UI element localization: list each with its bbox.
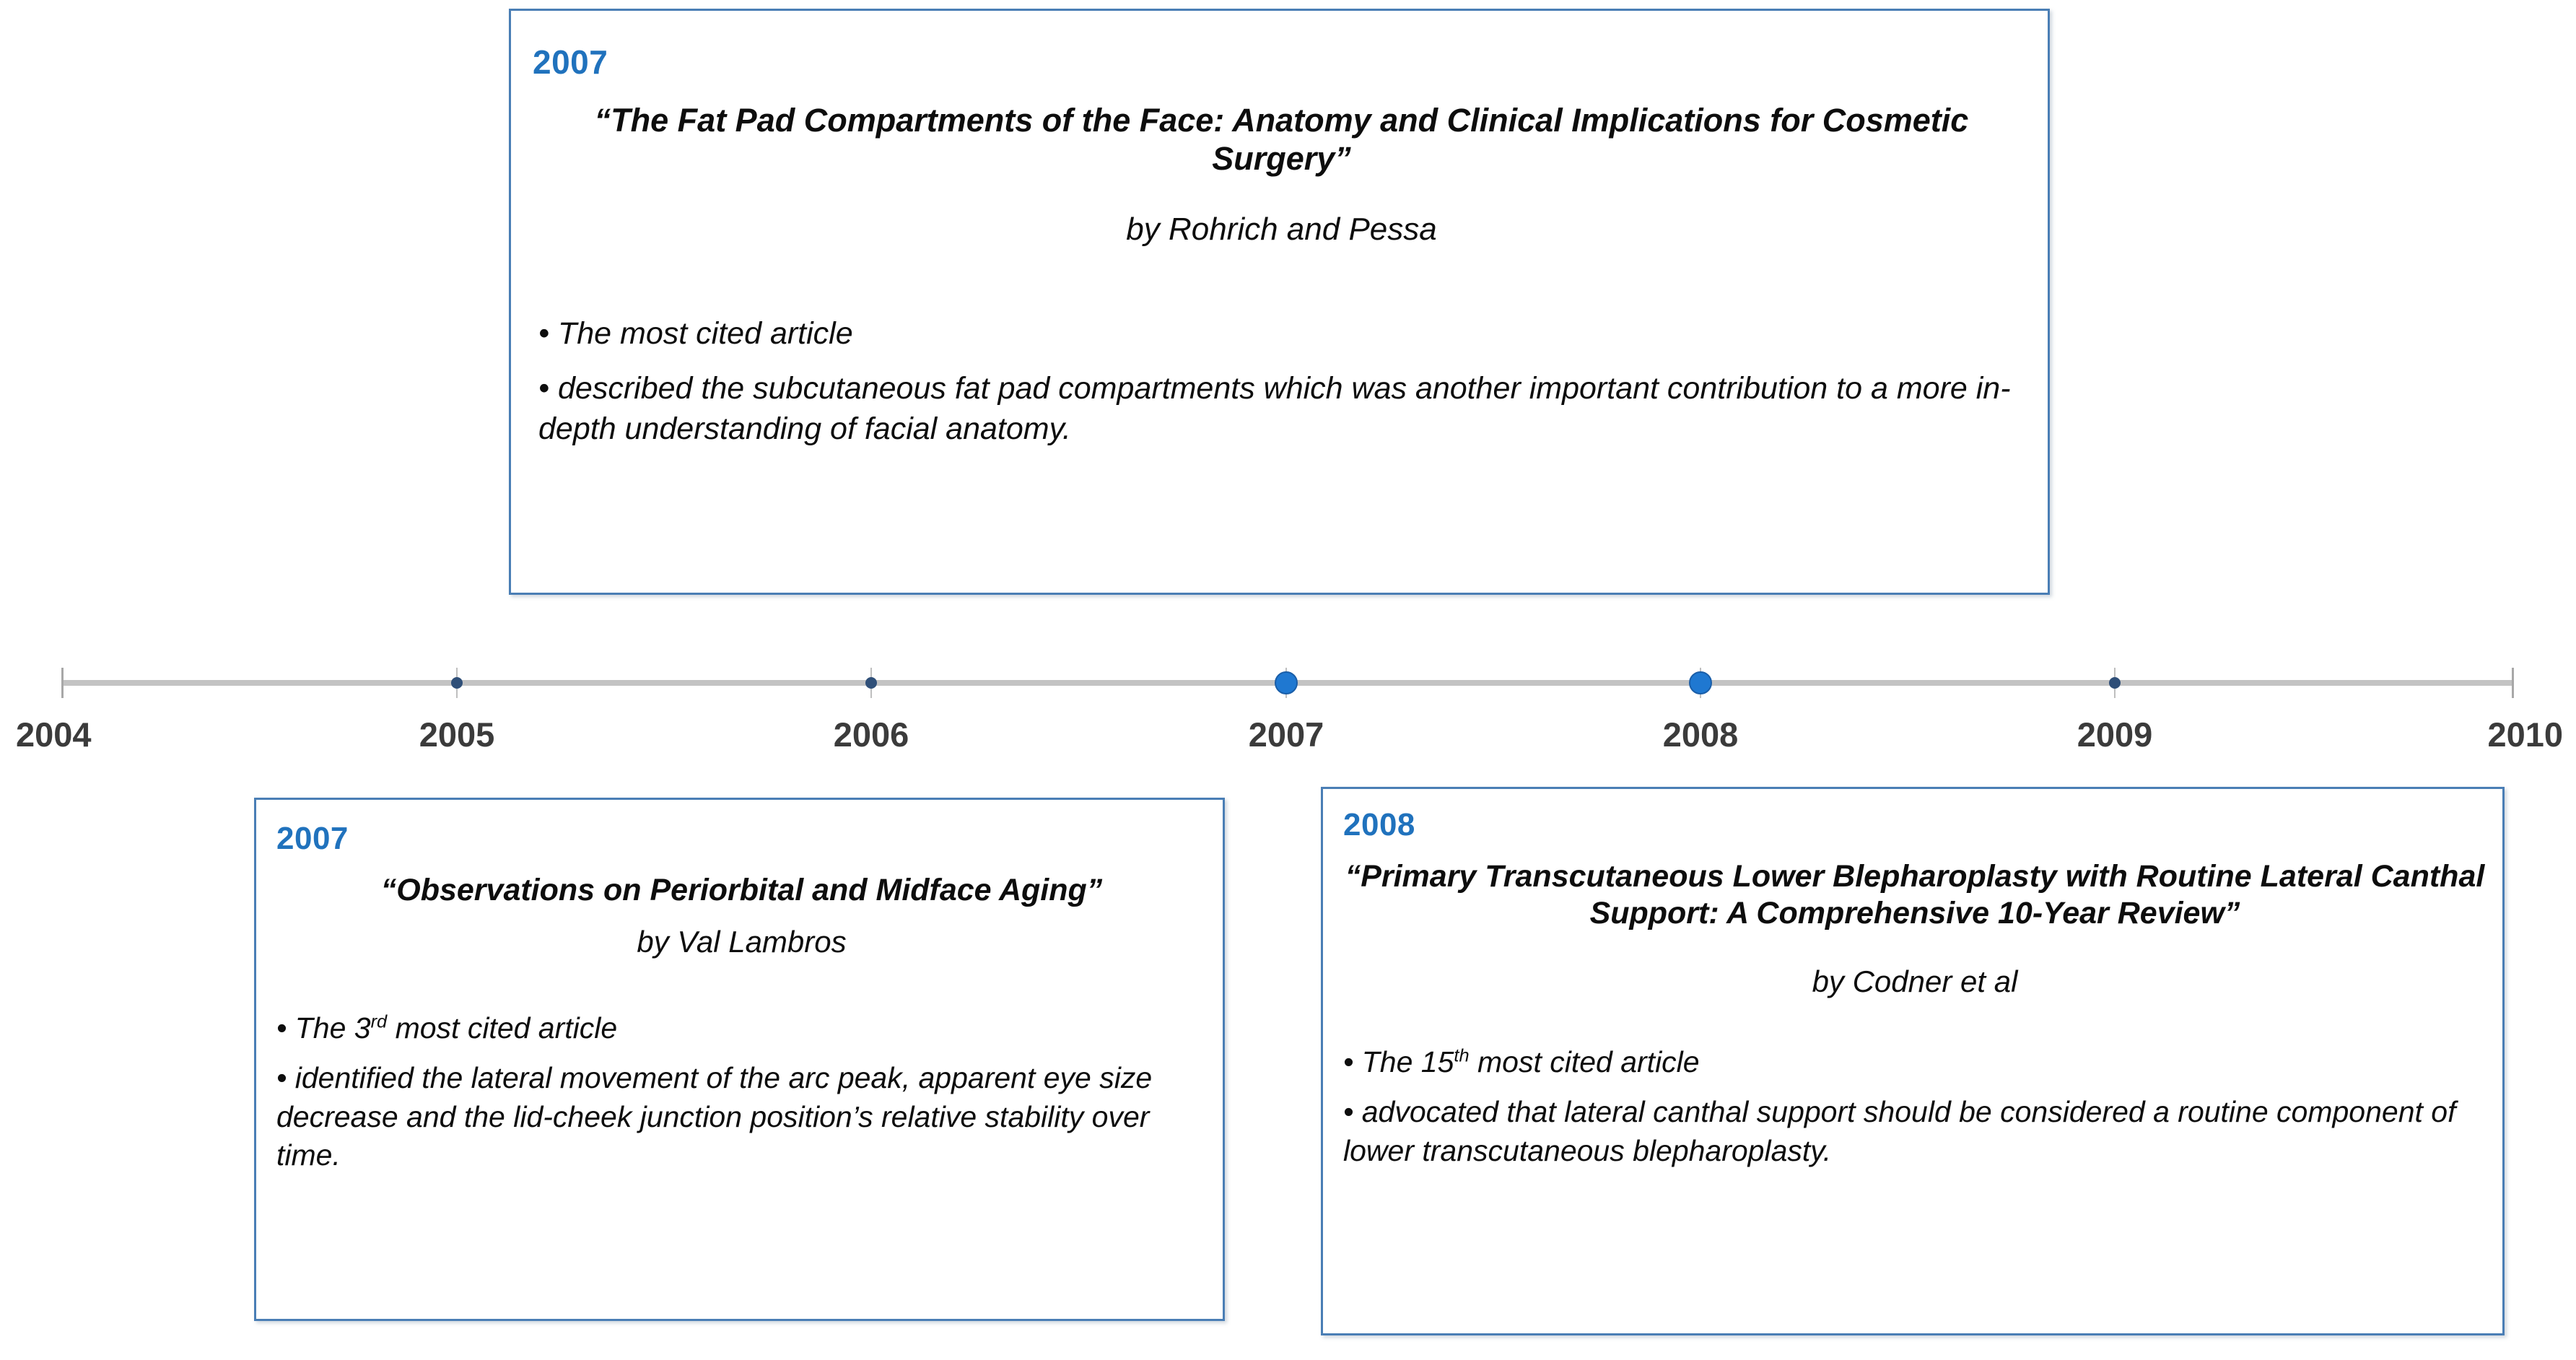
card-year-label: 2007 (533, 45, 608, 79)
list-item: • identified the lateral movement of the… (276, 1059, 1215, 1174)
event-card-2007-periorbital-midface: 2007 “Observations on Periorbital and Mi… (254, 798, 1225, 1321)
card-article-author: by Val Lambros (278, 924, 1205, 960)
card-article-title: “Primary Transcutaneous Lower Blepharopl… (1345, 858, 2485, 931)
timeline-marker-2008[interactable] (1689, 671, 1712, 694)
axis-year-label-2007: 2007 (1249, 715, 1324, 754)
event-card-2008-blepharoplasty: 2008 “Primary Transcutaneous Lower Bleph… (1321, 787, 2505, 1335)
list-item: • described the subcutaneous fat pad com… (538, 369, 2033, 450)
list-item: • advocated that lateral canthal support… (1343, 1093, 2494, 1170)
card-year-label: 2007 (276, 823, 349, 855)
timeline-marker-2005[interactable] (451, 677, 463, 689)
card-bullet-list: • The 3rd most cited article • identifie… (276, 1009, 1215, 1174)
axis-start-tick (61, 668, 64, 698)
list-item: • The 15th most cited article (1343, 1043, 2494, 1081)
card-article-title: “Observations on Periorbital and Midface… (278, 872, 1205, 909)
axis-year-label-2009: 2009 (2077, 715, 2153, 754)
card-article-title: “The Fat Pad Compartments of the Face: A… (540, 101, 2023, 178)
bullet-text-suffix: most cited article (387, 1011, 617, 1045)
ordinal-suffix: th (1454, 1045, 1469, 1065)
card-bullet-list: • The most cited article • described the… (538, 314, 2033, 450)
axis-year-label-2004: 2004 (16, 715, 92, 754)
axis-year-label-2006: 2006 (834, 715, 909, 754)
axis-year-label-2005: 2005 (419, 715, 495, 754)
timeline-marker-2007[interactable] (1275, 671, 1298, 694)
timeline-marker-2009[interactable] (2109, 677, 2121, 689)
bullet-text-prefix: • The 15 (1343, 1045, 1454, 1078)
card-year-label: 2008 (1343, 809, 1415, 841)
card-article-author: by Codner et al (1345, 964, 2485, 1000)
ordinal-suffix: rd (371, 1011, 388, 1032)
list-item: • The most cited article (538, 314, 2033, 354)
timeline-axis: 2004 2005 2006 2007 2008 2009 2010 (0, 621, 2576, 765)
list-item: • The 3rd most cited article (276, 1009, 1215, 1047)
timeline-marker-2006[interactable] (865, 677, 877, 689)
timeline-diagram: 2007 “The Fat Pad Compartments of the Fa… (0, 0, 2576, 1360)
event-card-2007-fat-pad: 2007 “The Fat Pad Compartments of the Fa… (509, 9, 2050, 595)
axis-end-tick (2512, 668, 2514, 698)
bullet-text-prefix: • The 3 (276, 1011, 371, 1045)
card-bullet-list: • The 15th most cited article • advocate… (1343, 1043, 2494, 1170)
bullet-text-suffix: most cited article (1470, 1045, 1700, 1078)
axis-year-label-2010: 2010 (2487, 715, 2563, 754)
card-article-author: by Rohrich and Pessa (540, 211, 2023, 248)
axis-year-label-2008: 2008 (1663, 715, 1739, 754)
